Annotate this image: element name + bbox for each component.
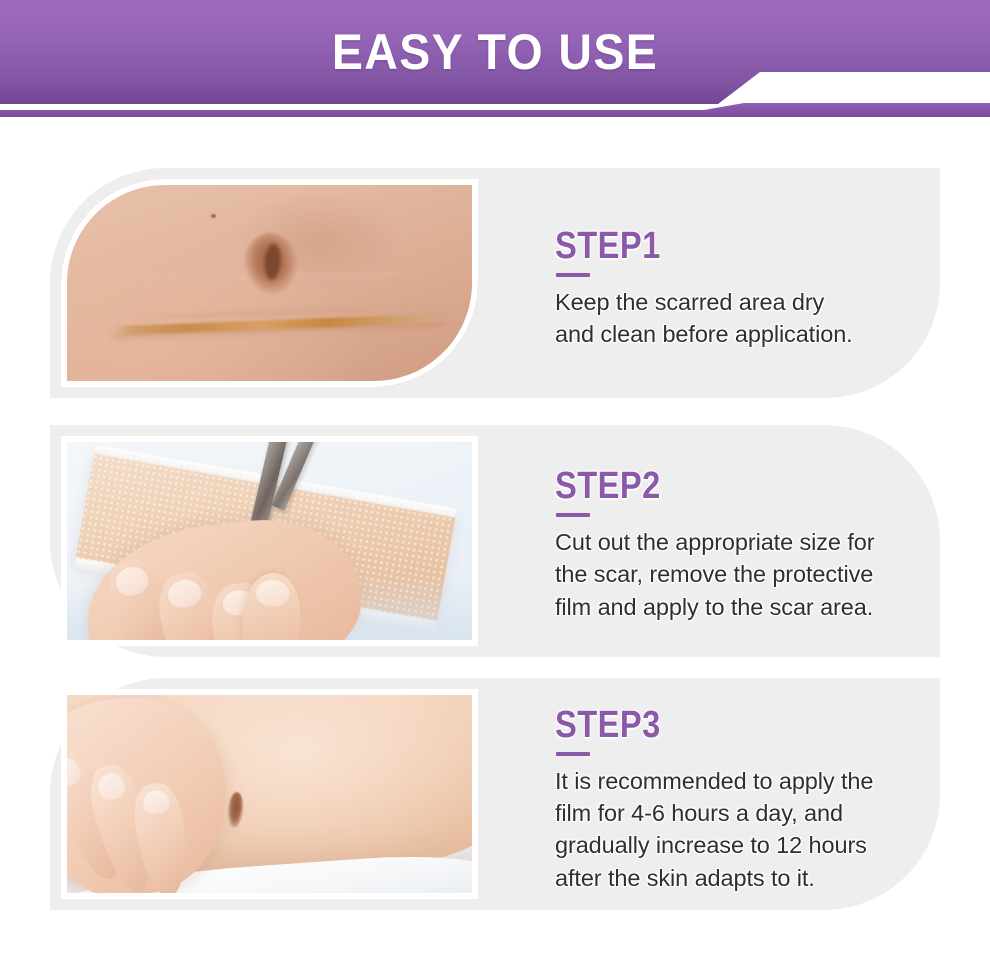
step-card-2: STEP2 Cut out the appropriate size for t… [50, 425, 940, 657]
step-2-text-block: STEP2 Cut out the appropriate size for t… [555, 425, 965, 661]
step-1-label: STEP1 [555, 227, 908, 267]
cutting-sheet-illustration [61, 436, 478, 646]
banner-accent-stripe [0, 103, 990, 117]
fingernail [143, 789, 172, 815]
page-title: EASY TO USE [35, 0, 956, 104]
step-1-photo [61, 179, 478, 387]
step-2-description: Cut out the appropriate size for the sca… [555, 526, 965, 623]
step-3-description: It is recommended to apply the film for … [555, 765, 965, 894]
thumbnail [255, 579, 290, 607]
step-card-3: STEP3 It is recommended to apply the fil… [50, 678, 940, 910]
step-1-description: Keep the scarred area dry and clean befo… [555, 286, 965, 350]
fingernail [97, 771, 129, 803]
fingernail [166, 577, 204, 609]
step-3-photo-frame [50, 678, 478, 910]
header-banner: EASY TO USE [0, 0, 990, 117]
step-3-label: STEP3 [555, 706, 908, 746]
step-1-divider [556, 273, 590, 277]
step-2-photo [61, 436, 478, 646]
step-2-divider [556, 513, 590, 517]
fingernail [61, 755, 84, 790]
belly-illustration [61, 689, 478, 899]
step-2-label: STEP2 [555, 467, 908, 507]
step-3-text-block: STEP3 It is recommended to apply the fil… [555, 678, 965, 916]
step-3-photo [61, 689, 478, 899]
step-2-photo-frame [50, 425, 478, 657]
skin-mole [211, 214, 216, 218]
fingernail [112, 563, 151, 599]
navel [240, 230, 302, 299]
step-card-1: STEP1 Keep the scarred area dry and clea… [50, 168, 940, 398]
step-3-divider [556, 752, 590, 756]
scar-skin-illustration [61, 179, 478, 387]
step-1-text-block: STEP1 Keep the scarred area dry and clea… [555, 168, 965, 404]
banner-accent-stripe-shape [0, 103, 990, 117]
step-1-photo-frame [50, 168, 478, 398]
